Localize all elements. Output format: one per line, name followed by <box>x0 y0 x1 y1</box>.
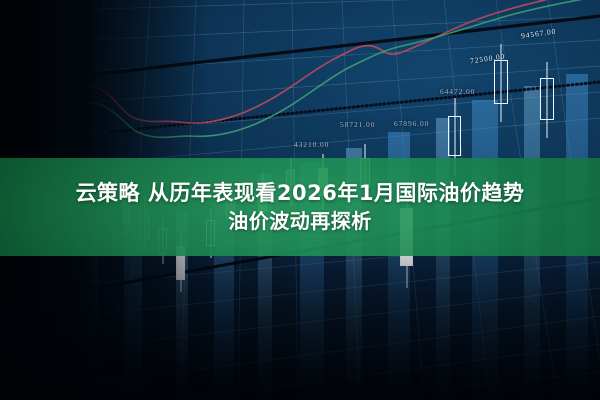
price-label: 58721.00 <box>340 120 375 129</box>
headline-line-2: 油价波动再探析 <box>228 210 372 233</box>
price-label: 67896.00 <box>394 119 429 128</box>
banner-image: 94567.00 72500.00 64472.00 67896.00 5872… <box>0 0 600 400</box>
price-label: 43210.00 <box>294 140 329 149</box>
price-label: 64472.00 <box>440 87 475 96</box>
headline-line-1: 云策略 从历年表现看2026年1月国际油价趋势 <box>76 181 525 205</box>
headline-block: 云策略 从历年表现看2026年1月国际油价趋势 油价波动再探析 <box>0 158 600 256</box>
